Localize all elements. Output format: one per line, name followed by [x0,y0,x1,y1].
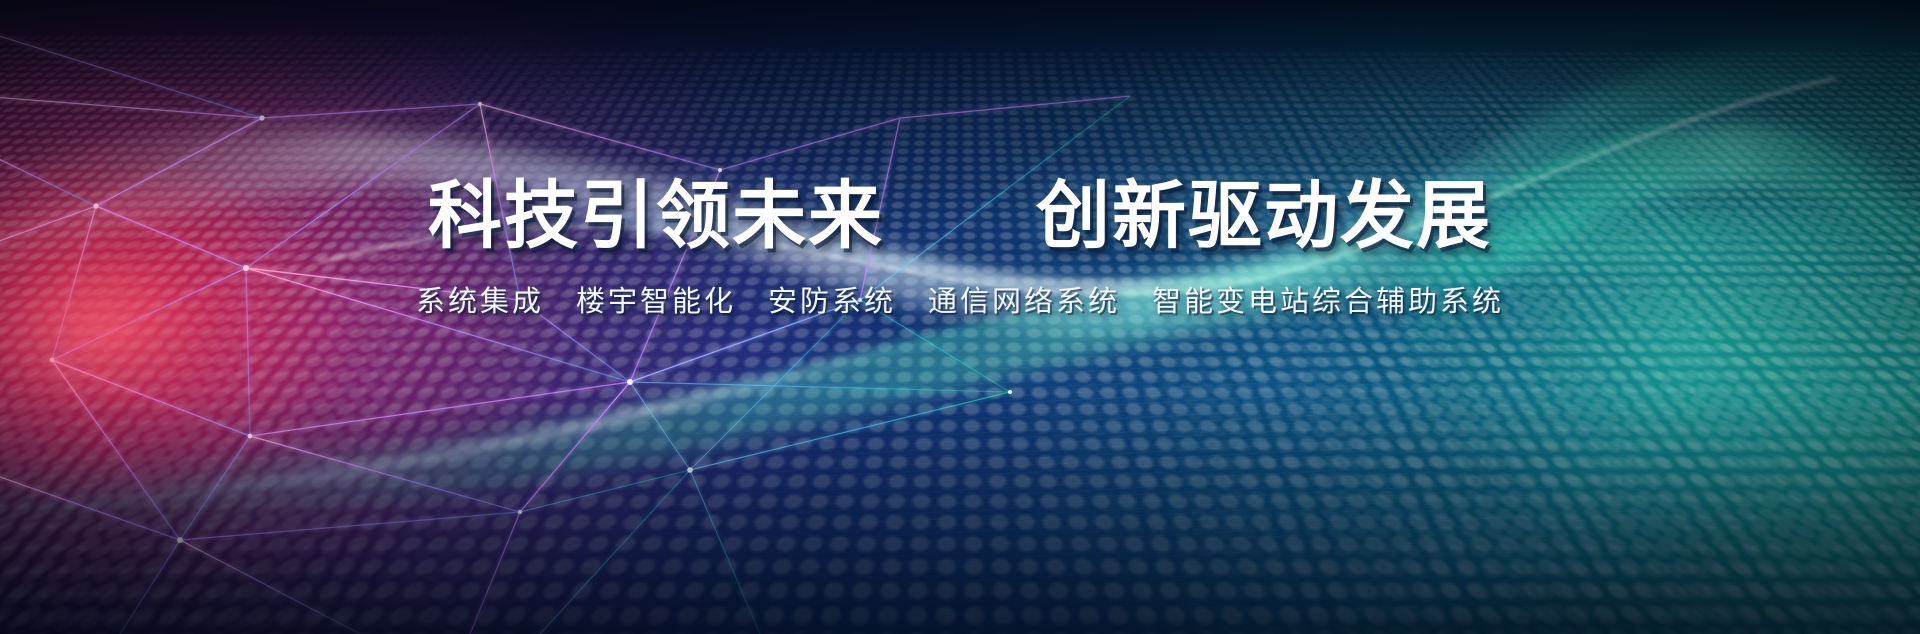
banner-subtitle: 系统集成 楼宇智能化 安防系统 通信网络系统 智能变电站综合辅助系统 [0,278,1920,320]
network-left-cluster [0,30,1130,634]
hero-banner: 科技引领未来 创新驱动发展 系统集成 楼宇智能化 安防系统 通信网络系统 智能变… [0,0,1920,634]
banner-headline: 科技引领未来 创新驱动发展 [0,176,1920,256]
banner-text-block: 科技引领未来 创新驱动发展 系统集成 楼宇智能化 安防系统 通信网络系统 智能变… [0,176,1920,320]
network-nodes [50,102,1012,543]
